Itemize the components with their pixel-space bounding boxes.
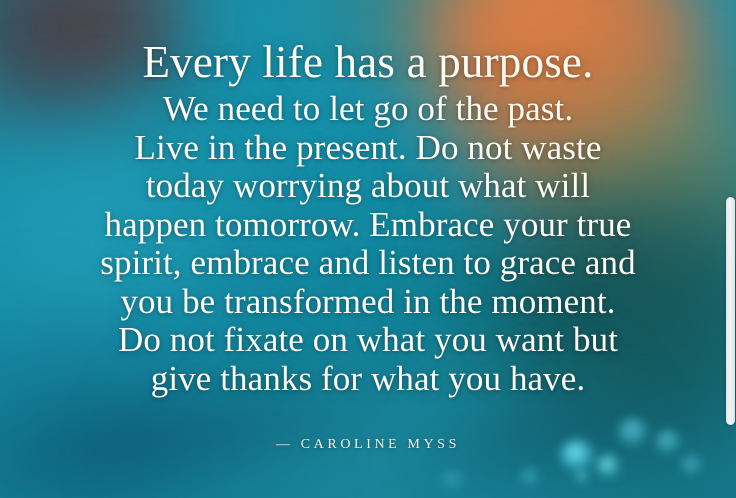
- quote-line-5: spirit, embrace and listen to grace and: [14, 244, 722, 283]
- vertical-scrollbar-track[interactable]: [725, 0, 736, 498]
- bokeh-highlight: [440, 470, 466, 490]
- bokeh-highlight: [520, 468, 540, 486]
- quote-line-1: We need to let go of the past.: [14, 90, 722, 129]
- quote-line-8: give thanks for what you have.: [14, 360, 722, 399]
- bokeh-highlight: [681, 455, 703, 475]
- quote-line-3: today worrying about what will: [14, 167, 722, 206]
- quote-line-6: you be transformed in the moment.: [14, 283, 722, 322]
- vertical-scrollbar-thumb[interactable]: [726, 197, 735, 425]
- quote-line-4: happen tomorrow. Embrace your true: [14, 206, 722, 245]
- bokeh-highlight: [596, 455, 620, 477]
- quote-text-block: Every life has a purpose. We need to let…: [0, 36, 736, 398]
- quote-line-2: Live in the present. Do not waste: [14, 129, 722, 168]
- quote-image-card: Every life has a purpose. We need to let…: [0, 0, 736, 498]
- quote-headline: Every life has a purpose.: [14, 36, 722, 88]
- quote-line-7: Do not fixate on what you want but: [14, 321, 722, 360]
- quote-attribution: — CAROLINE MYSS: [0, 437, 736, 453]
- bokeh-highlight: [575, 470, 589, 483]
